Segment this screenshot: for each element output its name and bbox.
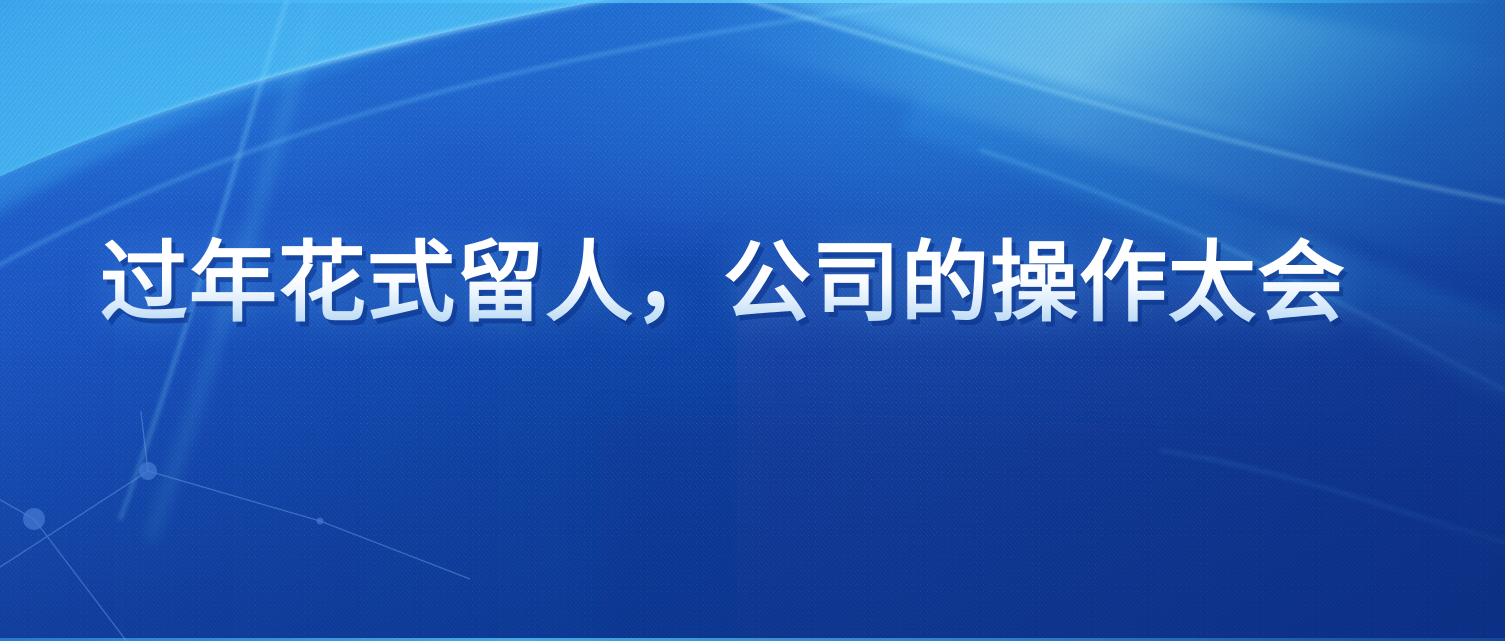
- promo-banner: 过年花式留人，公司的操作太会: [0, 0, 1505, 641]
- top-edge-glow: [0, 0, 1505, 3]
- headline-container: 过年花式留人，公司的操作太会: [0, 228, 1505, 338]
- banner-headline: 过年花式留人，公司的操作太会: [0, 237, 1346, 329]
